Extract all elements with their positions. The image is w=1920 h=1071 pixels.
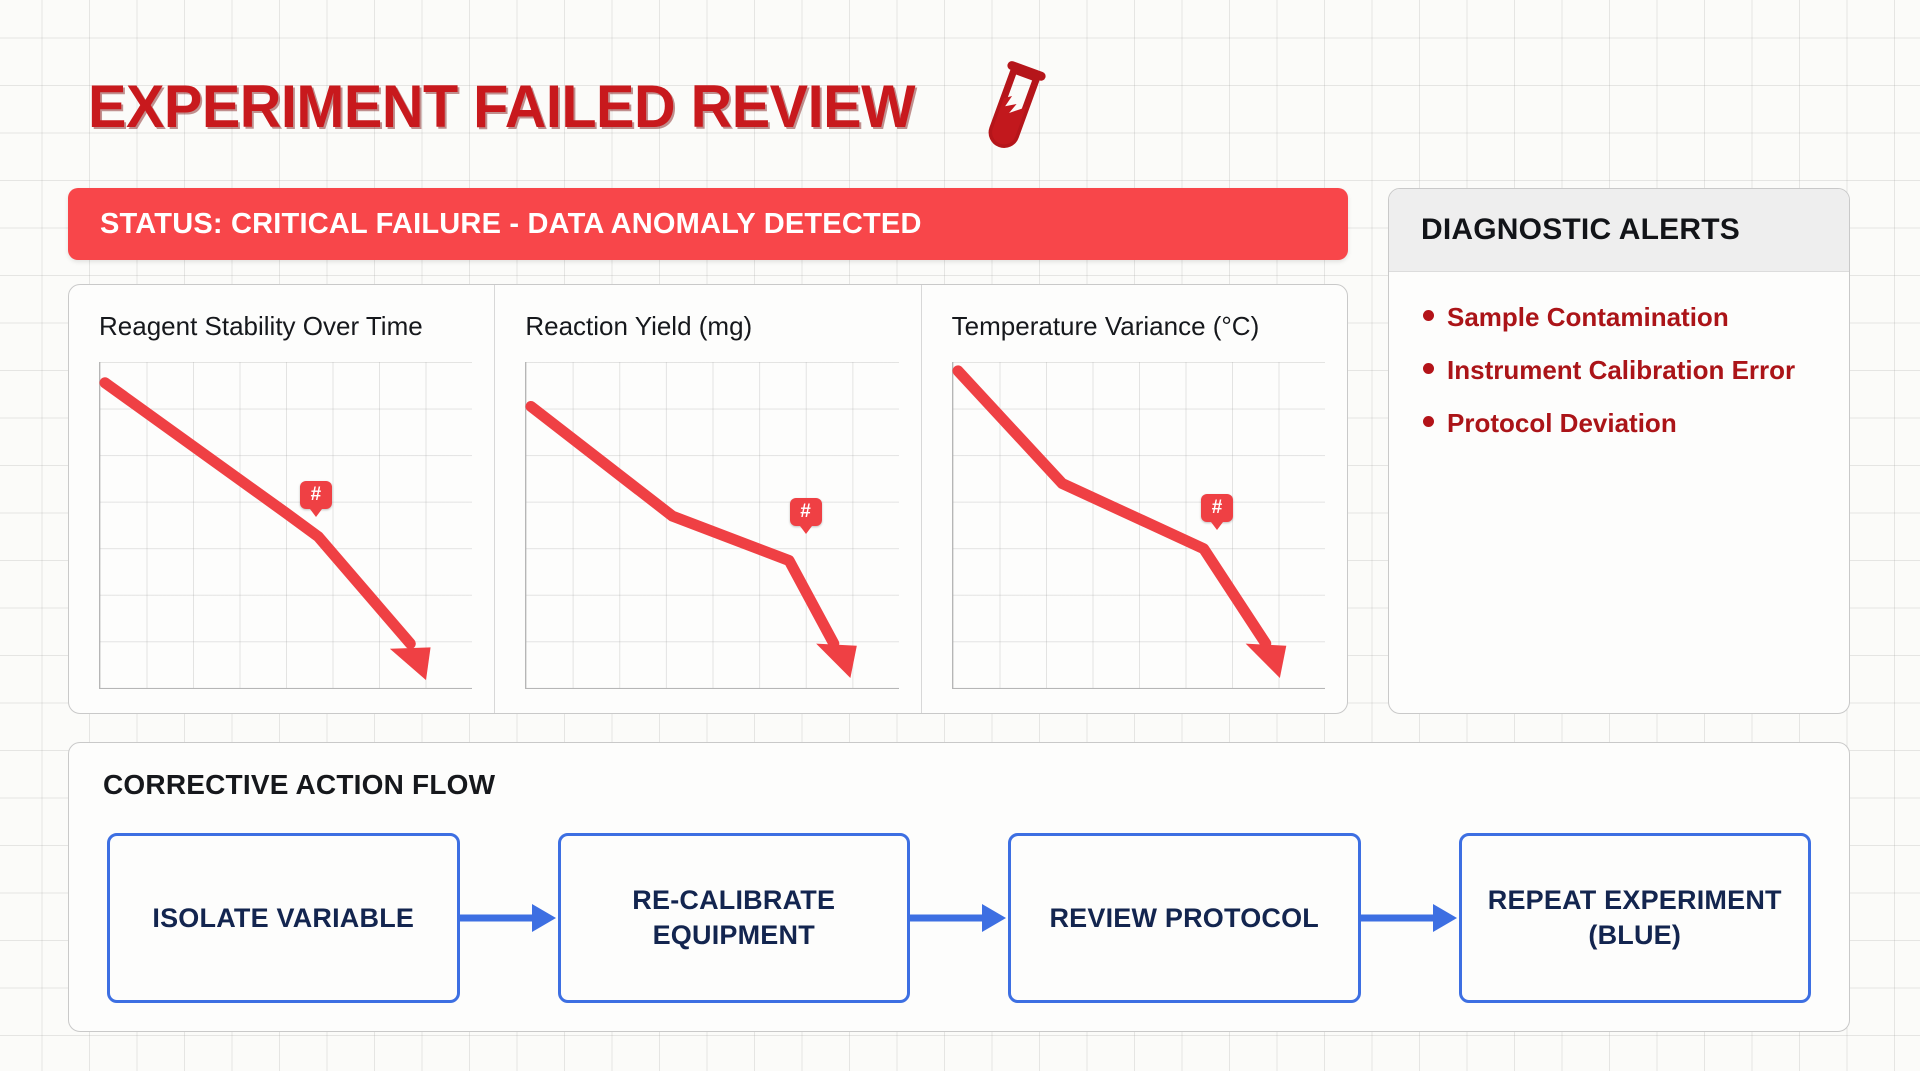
- arrow-head: [982, 904, 1006, 932]
- chart-plot-area: #: [952, 362, 1325, 689]
- alert-label: Protocol Deviation: [1447, 408, 1677, 439]
- chart-title: Temperature Variance (°C): [952, 311, 1325, 342]
- flow-step-repeat-experiment[interactable]: REPEAT EXPERIMENT (BLUE): [1459, 833, 1812, 1003]
- flow-arrow-icon-3: [1361, 905, 1459, 931]
- diagnostic-alerts-list: Sample Contamination Instrument Calibrat…: [1389, 272, 1849, 439]
- charts-row: Reagent Stability Over Time # Reaction Y…: [69, 285, 1347, 713]
- page-root: EXPERIMENT FAILED REVIEW STATUS: CRITICA…: [0, 0, 1920, 1071]
- page-header: EXPERIMENT FAILED REVIEW: [88, 52, 1051, 160]
- chart-title: Reaction Yield (mg): [525, 311, 898, 342]
- charts-card: Reagent Stability Over Time # Reaction Y…: [68, 284, 1348, 714]
- alert-label: Instrument Calibration Error: [1447, 355, 1795, 386]
- chart-line-svg: [526, 362, 898, 688]
- diagnostic-alerts-card: DIAGNOSTIC ALERTS Sample Contamination I…: [1388, 188, 1850, 714]
- bullet-icon: [1423, 416, 1434, 427]
- arrow-head: [1433, 904, 1457, 932]
- alert-label: Sample Contamination: [1447, 302, 1729, 333]
- chart-annotation-marker: #: [790, 498, 822, 532]
- status-banner-text: STATUS: CRITICAL FAILURE - DATA ANOMALY …: [100, 208, 922, 241]
- broken-test-tube-icon: [975, 56, 1051, 160]
- chart-plot-area: #: [525, 362, 898, 689]
- flow-step-label: REPEAT EXPERIMENT (BLUE): [1472, 883, 1799, 952]
- diagnostic-alerts-header: DIAGNOSTIC ALERTS: [1389, 189, 1849, 272]
- flow-step-isolate-variable[interactable]: ISOLATE VARIABLE: [107, 833, 460, 1003]
- corrective-action-flow-title: CORRECTIVE ACTION FLOW: [103, 769, 495, 801]
- bullet-icon: [1423, 310, 1434, 321]
- flow-arrow-icon-1: [460, 905, 558, 931]
- chart-panel-reagent-stability: Reagent Stability Over Time #: [69, 285, 494, 713]
- chart-plot-area: #: [99, 362, 472, 689]
- hash-badge-label: #: [300, 481, 332, 509]
- list-item[interactable]: Protocol Deviation: [1423, 408, 1849, 439]
- arrow-shaft: [460, 915, 532, 922]
- list-item[interactable]: Sample Contamination: [1423, 302, 1849, 333]
- flow-step-review-protocol[interactable]: REVIEW PROTOCOL: [1008, 833, 1361, 1003]
- hash-badge-tail: [310, 509, 322, 517]
- arrow-head: [532, 904, 556, 932]
- corrective-action-flow-row: ISOLATE VARIABLE RE-CALIBRATE EQUIPMENT …: [107, 833, 1811, 1003]
- bullet-icon: [1423, 363, 1434, 374]
- chart-line-svg: [100, 362, 472, 688]
- chart-title: Reagent Stability Over Time: [99, 311, 472, 342]
- arrow-shaft: [910, 915, 982, 922]
- flow-step-label: REVIEW PROTOCOL: [1049, 901, 1319, 936]
- hash-badge-label: #: [790, 498, 822, 526]
- chart-panel-temperature-variance: Temperature Variance (°C) #: [921, 285, 1347, 713]
- diagnostic-alerts-title: DIAGNOSTIC ALERTS: [1421, 213, 1740, 247]
- chart-annotation-marker: #: [1201, 494, 1233, 528]
- hash-badge-label: #: [1201, 494, 1233, 522]
- flow-step-label: RE-CALIBRATE EQUIPMENT: [571, 883, 898, 952]
- flow-step-label: ISOLATE VARIABLE: [152, 901, 414, 936]
- status-banner: STATUS: CRITICAL FAILURE - DATA ANOMALY …: [68, 188, 1348, 260]
- list-item[interactable]: Instrument Calibration Error: [1423, 355, 1849, 386]
- flow-step-re-calibrate-equipment[interactable]: RE-CALIBRATE EQUIPMENT: [558, 833, 911, 1003]
- chart-line-svg: [953, 362, 1325, 688]
- hash-badge-tail: [1211, 522, 1223, 530]
- flow-arrow-icon-2: [910, 905, 1008, 931]
- hash-badge-tail: [800, 526, 812, 534]
- arrow-shaft: [1361, 915, 1433, 922]
- chart-panel-reaction-yield: Reaction Yield (mg) #: [494, 285, 920, 713]
- corrective-action-flow-card: CORRECTIVE ACTION FLOW ISOLATE VARIABLE …: [68, 742, 1850, 1032]
- chart-annotation-marker: #: [300, 481, 332, 515]
- page-title: EXPERIMENT FAILED REVIEW: [88, 72, 915, 141]
